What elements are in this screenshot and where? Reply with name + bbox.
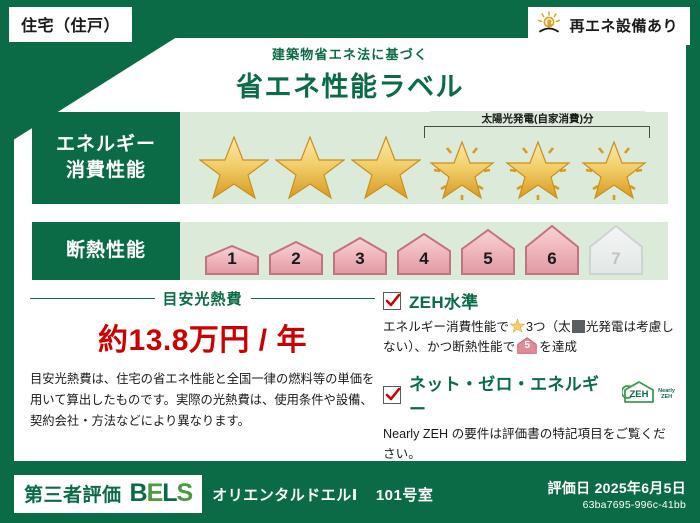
energy-performance-body: 太陽光発電(自家消費)分	[180, 112, 668, 204]
energy-label-root: 住宅（住戸） 再エネ設備あり 建築物省エネ法に基づく 省エネ性能ラベル	[0, 0, 700, 523]
insulation-level-number: 1	[201, 249, 263, 269]
net-zero-energy-head: ネット・ゼロ・エネルギー ZEH Nearly ZEH	[383, 370, 675, 420]
insulation-level-number: 7	[585, 249, 647, 269]
star-filled	[275, 128, 345, 200]
net-zero-energy-title: ネット・ゼロ・エネルギー	[409, 370, 612, 420]
insulation-level-4: 4	[393, 233, 455, 275]
solar-bracket	[424, 126, 650, 138]
building-type-tag: 住宅（住戸）	[8, 6, 133, 43]
utility-cost-note: 目安光熱費は、住宅の省エネ性能と全国一律の燃料等の単価を用いて算出したものです。…	[30, 369, 375, 432]
solar-bracket-label: 太陽光発電(自家消費)分	[430, 111, 645, 126]
zeh-house-mark: ZEH Nearly ZEH	[622, 380, 675, 409]
insulation-level-7: 7	[585, 225, 647, 275]
net-zero-energy-text: Nearly ZEH の要件は評価書の特記項目をご覧ください。	[383, 424, 675, 465]
inline-house-level: 5	[517, 337, 537, 353]
inline-star-icon	[510, 318, 525, 333]
star-solar	[579, 128, 649, 200]
insulation-level-5: 5	[457, 229, 519, 275]
page-title-group: 建築物省エネ法に基づく 省エネ性能ラベル	[0, 44, 700, 104]
insulation-level-number: 3	[329, 249, 391, 269]
insulation-performance-label: 断熱性能	[32, 222, 180, 280]
zeh-standard-title: ZEH水準	[409, 288, 479, 313]
renewable-badge-label: 再エネ設備あり	[569, 15, 678, 36]
solar-sun-icon	[536, 11, 562, 40]
zeh-mark-sub: Nearly ZEH	[658, 389, 675, 401]
utility-cost-value: 約13.8万円 / 年	[30, 315, 375, 359]
insulation-level-number: 2	[265, 249, 327, 269]
zeh-standard-text: エネルギー消費性能で3つ（太光発電は考慮しない）、かつ断熱性能で5を達成	[383, 317, 675, 358]
footer-meta: 評価日 2025年6月5日 63ba7695-996c-41bb	[547, 478, 686, 511]
star-filled	[351, 128, 421, 200]
insulation-level-number: 6	[521, 249, 583, 269]
bels-logo: BELS	[130, 481, 193, 506]
footer-bar: 第三者評価 BELS オリエンタルドエルⅠ 101号室 評価日 2025年6月5…	[0, 465, 700, 523]
checkbox-checked-icon[interactable]	[383, 386, 401, 404]
insulation-level-number: 5	[457, 249, 519, 269]
insulation-level-3: 3	[329, 237, 391, 275]
utility-cost-block: 目安光熱費 約13.8万円 / 年	[30, 288, 375, 359]
energy-label-line1: エネルギー	[56, 132, 156, 158]
svg-text:ZEH: ZEH	[630, 389, 649, 400]
page-title: 省エネ性能ラベル	[0, 65, 700, 104]
insulation-level-number: 4	[393, 249, 455, 269]
zeh-column: ZEH水準 エネルギー消費性能で3つ（太光発電は考慮しない）、かつ断熱性能で5を…	[383, 288, 675, 465]
zeh-standard-block: ZEH水準 エネルギー消費性能で3つ（太光発電は考慮しない）、かつ断熱性能で5を…	[383, 288, 675, 358]
checkbox-checked-icon[interactable]	[383, 292, 401, 310]
insulation-level-6: 6	[521, 225, 583, 275]
subtitle: 建築物省エネ法に基づく	[0, 44, 700, 63]
rule-right	[251, 298, 376, 300]
energy-performance-row: エネルギー 消費性能 太陽光発電(自家消費)分	[32, 112, 668, 204]
net-zero-energy-block: ネット・ゼロ・エネルギー ZEH Nearly ZEH Nea	[383, 370, 675, 465]
utility-cost-title: 目安光熱費	[163, 288, 243, 309]
star-solar	[427, 128, 497, 200]
utility-cost-title-row: 目安光熱費	[30, 288, 375, 309]
star-solar	[503, 128, 573, 200]
energy-label-line2: 消費性能	[66, 158, 146, 184]
rule-left	[30, 298, 155, 300]
evaluation-id: 63ba7695-996c-41bb	[547, 499, 686, 511]
insulation-performance-row: 断熱性能	[32, 222, 668, 280]
zeh-text-star: 3つ（太	[526, 320, 571, 334]
zeh-text-part3: を達成	[539, 340, 577, 354]
zeh-house-icon: ZEH	[622, 380, 656, 409]
insulation-level-scale: 1 2 3 4	[180, 222, 668, 280]
star-filled	[199, 128, 269, 200]
redacted-character	[572, 320, 585, 333]
insulation-level-2: 2	[265, 241, 327, 275]
insulation-performance-body: 1 2 3 4	[180, 222, 668, 280]
renewable-equipment-badge: 再エネ設備あり	[528, 7, 690, 45]
insulation-level-1: 1	[201, 245, 263, 275]
third-party-label: 第三者評価	[24, 480, 122, 507]
evaluation-date: 評価日 2025年6月5日	[547, 478, 686, 498]
zeh-mark-sub-line2: ZEH	[661, 394, 672, 400]
energy-performance-label: エネルギー 消費性能	[32, 112, 180, 204]
inline-house-icon: 5	[517, 337, 537, 353]
bels-logo-box: 第三者評価 BELS	[14, 475, 202, 513]
property-name: オリエンタルドエルⅠ	[212, 484, 358, 505]
property-room: 101号室	[376, 484, 434, 505]
zeh-standard-head: ZEH水準	[383, 288, 675, 313]
zeh-text-part1: エネルギー消費性能で	[383, 320, 509, 334]
